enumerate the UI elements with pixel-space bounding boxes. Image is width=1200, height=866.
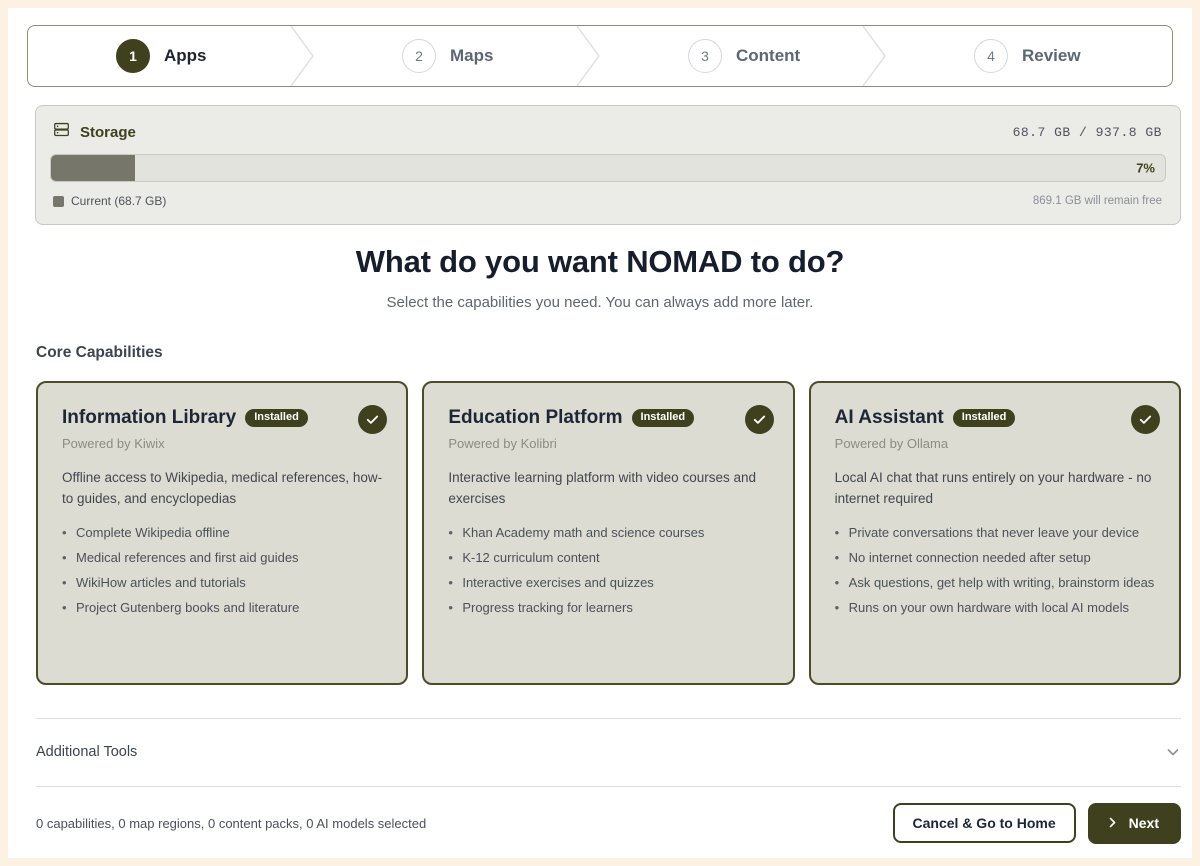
step-content-number: 3 <box>688 39 722 73</box>
list-item: Interactive exercises and quizzes <box>448 574 770 593</box>
next-button[interactable]: Next <box>1088 803 1181 844</box>
list-item: Progress tracking for learners <box>448 599 770 618</box>
card-powered-by: Powered by Ollama <box>835 436 1157 451</box>
list-item: Medical references and first aid guides <box>62 549 384 568</box>
step-separator-icon <box>289 26 315 86</box>
storage-legend-swatch <box>53 196 64 207</box>
storage-progress-fill <box>51 155 135 181</box>
selection-summary: 0 capabilities, 0 map regions, 0 content… <box>36 816 426 831</box>
step-separator-icon <box>861 26 887 86</box>
step-apps-label: Apps <box>164 46 207 66</box>
chevron-right-icon <box>1106 816 1119 831</box>
list-item: Runs on your own hardware with local AI … <box>835 599 1157 618</box>
page-subtitle: Select the capabilities you need. You ca… <box>8 294 1192 311</box>
list-item: Private conversations that never leave y… <box>835 524 1157 543</box>
storage-free-note: 869.1 GB will remain free <box>1033 195 1162 207</box>
card-feature-list: Khan Academy math and science courses K-… <box>448 524 770 617</box>
card-powered-by: Powered by Kolibri <box>448 436 770 451</box>
storage-percent-label: 7% <box>1136 161 1155 176</box>
step-separator-icon <box>575 26 601 86</box>
capability-card-ai-assistant[interactable]: AI Assistant Installed Powered by Ollama… <box>809 381 1181 685</box>
list-item: K-12 curriculum content <box>448 549 770 568</box>
status-badge: Installed <box>245 409 308 427</box>
card-header: Information Library Installed <box>62 407 384 429</box>
card-feature-list: Complete Wikipedia offline Medical refer… <box>62 524 384 617</box>
step-maps-number: 2 <box>402 39 436 73</box>
list-item: WikiHow articles and tutorials <box>62 574 384 593</box>
storage-title: Storage <box>80 124 136 141</box>
list-item: Ask questions, get help with writing, br… <box>835 574 1157 593</box>
check-icon[interactable] <box>358 405 387 434</box>
card-description: Local AI chat that runs entirely on your… <box>835 468 1157 509</box>
step-review[interactable]: 4 Review <box>886 26 1172 86</box>
hero-section: What do you want NOMAD to do? Select the… <box>8 244 1192 311</box>
card-title: AI Assistant <box>835 407 944 429</box>
cancel-button[interactable]: Cancel & Go to Home <box>893 803 1076 843</box>
status-badge: Installed <box>632 409 695 427</box>
core-capabilities-heading: Core Capabilities <box>36 344 163 362</box>
storage-progress-bar: 7% <box>50 154 1166 182</box>
storage-panel: Storage 68.7 GB / 937.8 GB 7% Current (6… <box>35 105 1181 225</box>
capability-card-information-library[interactable]: Information Library Installed Powered by… <box>36 381 408 685</box>
chevron-down-icon[interactable] <box>1165 744 1181 760</box>
step-review-label: Review <box>1022 46 1081 66</box>
storage-legend-label: Current (68.7 GB) <box>71 194 166 208</box>
check-icon[interactable] <box>1131 405 1160 434</box>
database-icon <box>53 121 70 143</box>
check-icon[interactable] <box>745 405 774 434</box>
step-content-label: Content <box>736 46 800 66</box>
list-item: Complete Wikipedia offline <box>62 524 384 543</box>
step-apps[interactable]: 1 Apps <box>28 26 314 86</box>
list-item: Khan Academy math and science courses <box>448 524 770 543</box>
step-content[interactable]: 3 Content <box>600 26 886 86</box>
step-apps-number: 1 <box>116 39 150 73</box>
storage-footer: Current (68.7 GB) 869.1 GB will remain f… <box>53 194 1162 208</box>
card-description: Interactive learning platform with video… <box>448 468 770 509</box>
additional-tools-accordion[interactable]: Additional Tools <box>36 718 1181 786</box>
card-title: Information Library <box>62 407 236 429</box>
step-maps[interactable]: 2 Maps <box>314 26 600 86</box>
next-button-label: Next <box>1129 816 1159 830</box>
additional-tools-label: Additional Tools <box>36 744 137 760</box>
footer-actions: Cancel & Go to Home Next <box>893 803 1182 844</box>
storage-amount: 68.7 GB / 937.8 GB <box>1013 125 1162 140</box>
wizard-stepper: 1 Apps 2 Maps 3 Content 4 Review <box>27 25 1173 87</box>
card-description: Offline access to Wikipedia, medical ref… <box>62 468 384 509</box>
step-review-number: 4 <box>974 39 1008 73</box>
card-feature-list: Private conversations that never leave y… <box>835 524 1157 617</box>
footer-bar: 0 capabilities, 0 map regions, 0 content… <box>36 798 1181 848</box>
storage-header: Storage 68.7 GB / 937.8 GB <box>53 121 1162 143</box>
capability-card-grid: Information Library Installed Powered by… <box>36 381 1181 685</box>
card-header: Education Platform Installed <box>448 407 770 429</box>
status-badge: Installed <box>953 409 1016 427</box>
card-title: Education Platform <box>448 407 622 429</box>
divider <box>36 786 1181 787</box>
step-maps-label: Maps <box>450 46 493 66</box>
list-item: No internet connection needed after setu… <box>835 549 1157 568</box>
capability-card-education-platform[interactable]: Education Platform Installed Powered by … <box>422 381 794 685</box>
list-item: Project Gutenberg books and literature <box>62 599 384 618</box>
app-window: 1 Apps 2 Maps 3 Content 4 Review <box>8 8 1192 858</box>
card-header: AI Assistant Installed <box>835 407 1157 429</box>
page-title: What do you want NOMAD to do? <box>8 244 1192 280</box>
card-powered-by: Powered by Kiwix <box>62 436 384 451</box>
